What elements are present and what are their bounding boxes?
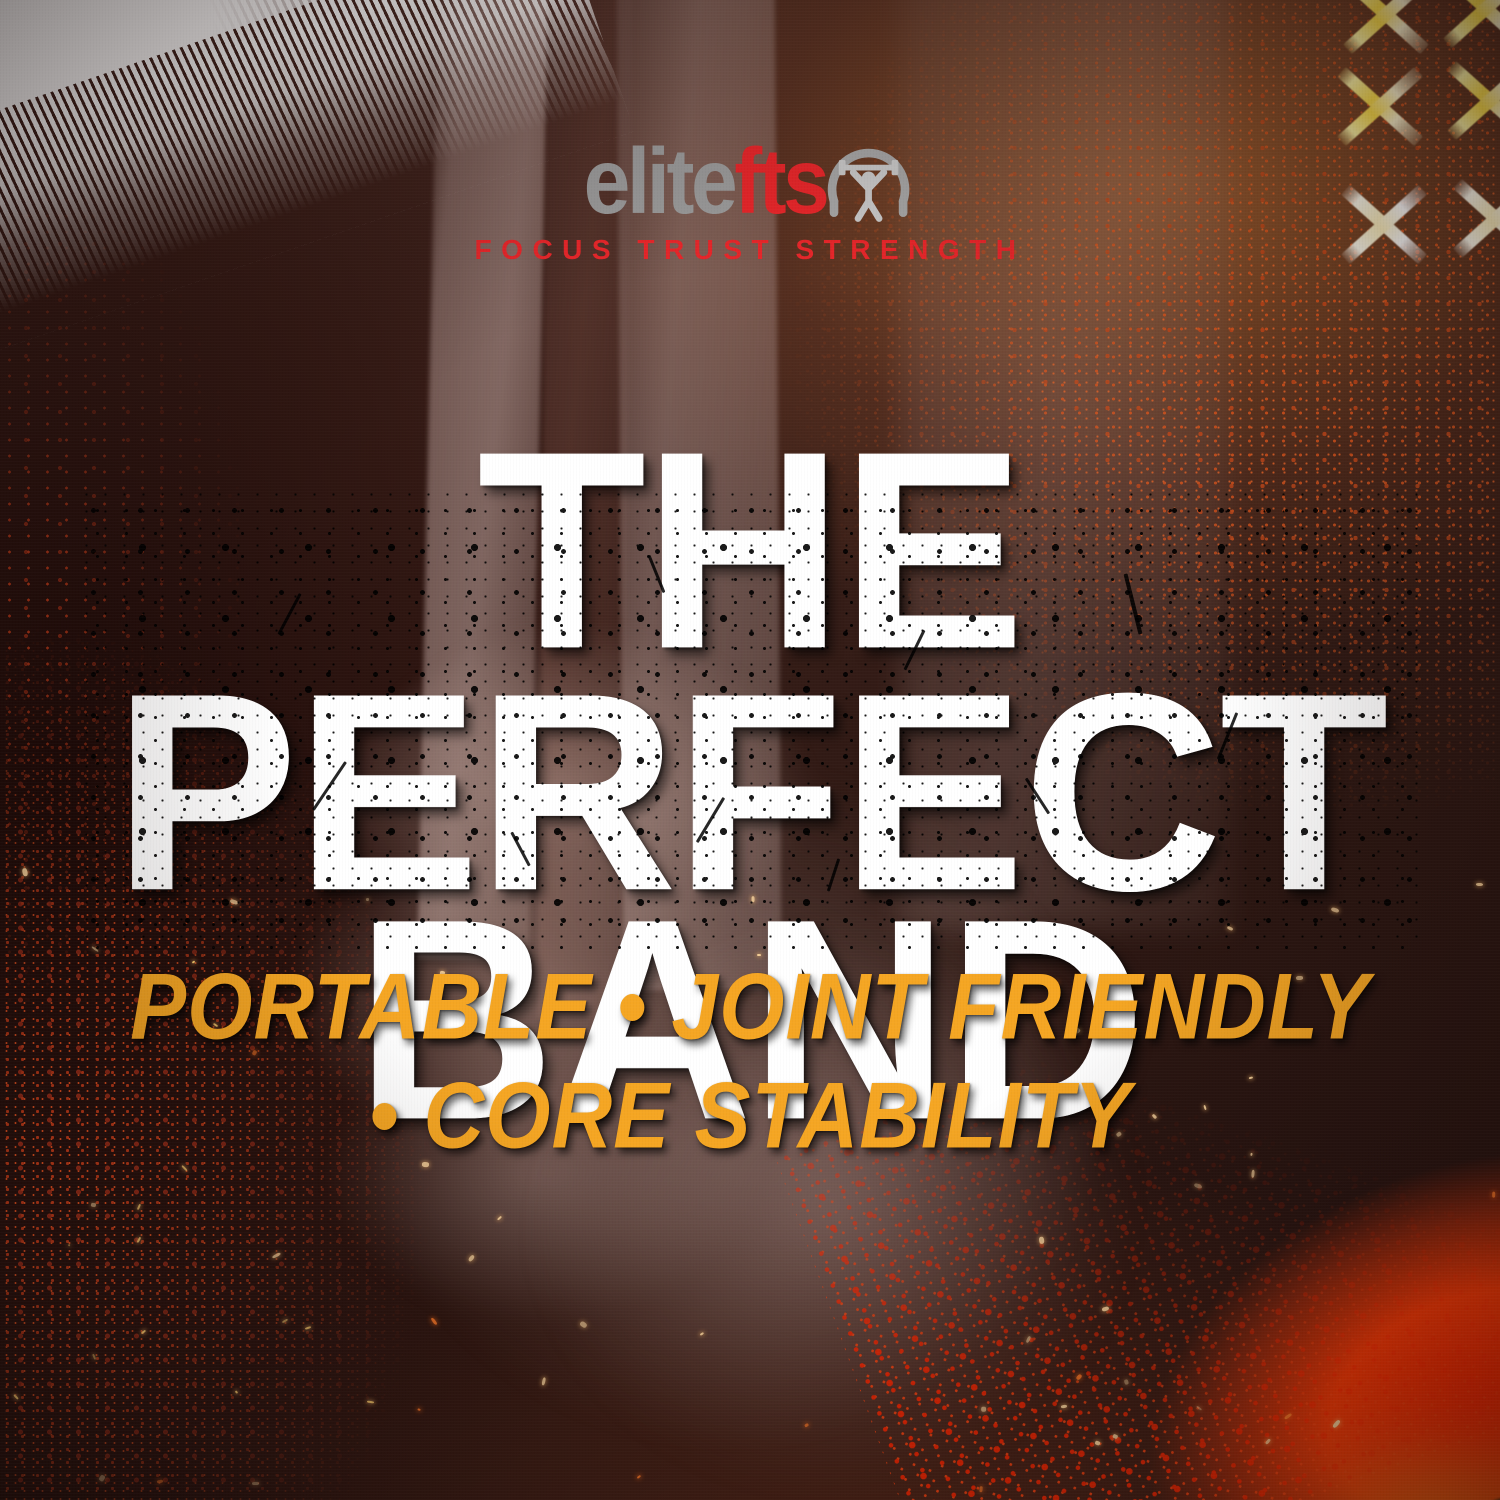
weightlifter-badge-icon xyxy=(820,134,916,230)
splatter-glow xyxy=(1080,1230,1500,1500)
promo-poster: elite fts FOCUS TRUST STRENGTH THE PERFE… xyxy=(0,0,1500,1500)
logo-slogan: FOCUS TRUST STRENGTH xyxy=(475,234,1026,266)
logo-brand-light: elite xyxy=(584,140,735,223)
elitefts-logo[interactable]: elite fts FOCUS TRUST STRENGTH xyxy=(475,134,1026,266)
logo-brand-bold: fts xyxy=(734,140,826,223)
headline-line-1: THE PERFECT xyxy=(0,431,1500,914)
feature-tagline: PORTABLE • JOINT FRIENDLY • CORE STABILI… xyxy=(0,963,1500,1160)
tagline-line-1: PORTABLE • JOINT FRIENDLY xyxy=(0,958,1500,1056)
tagline-line-2: • CORE STABILITY xyxy=(0,1067,1500,1165)
